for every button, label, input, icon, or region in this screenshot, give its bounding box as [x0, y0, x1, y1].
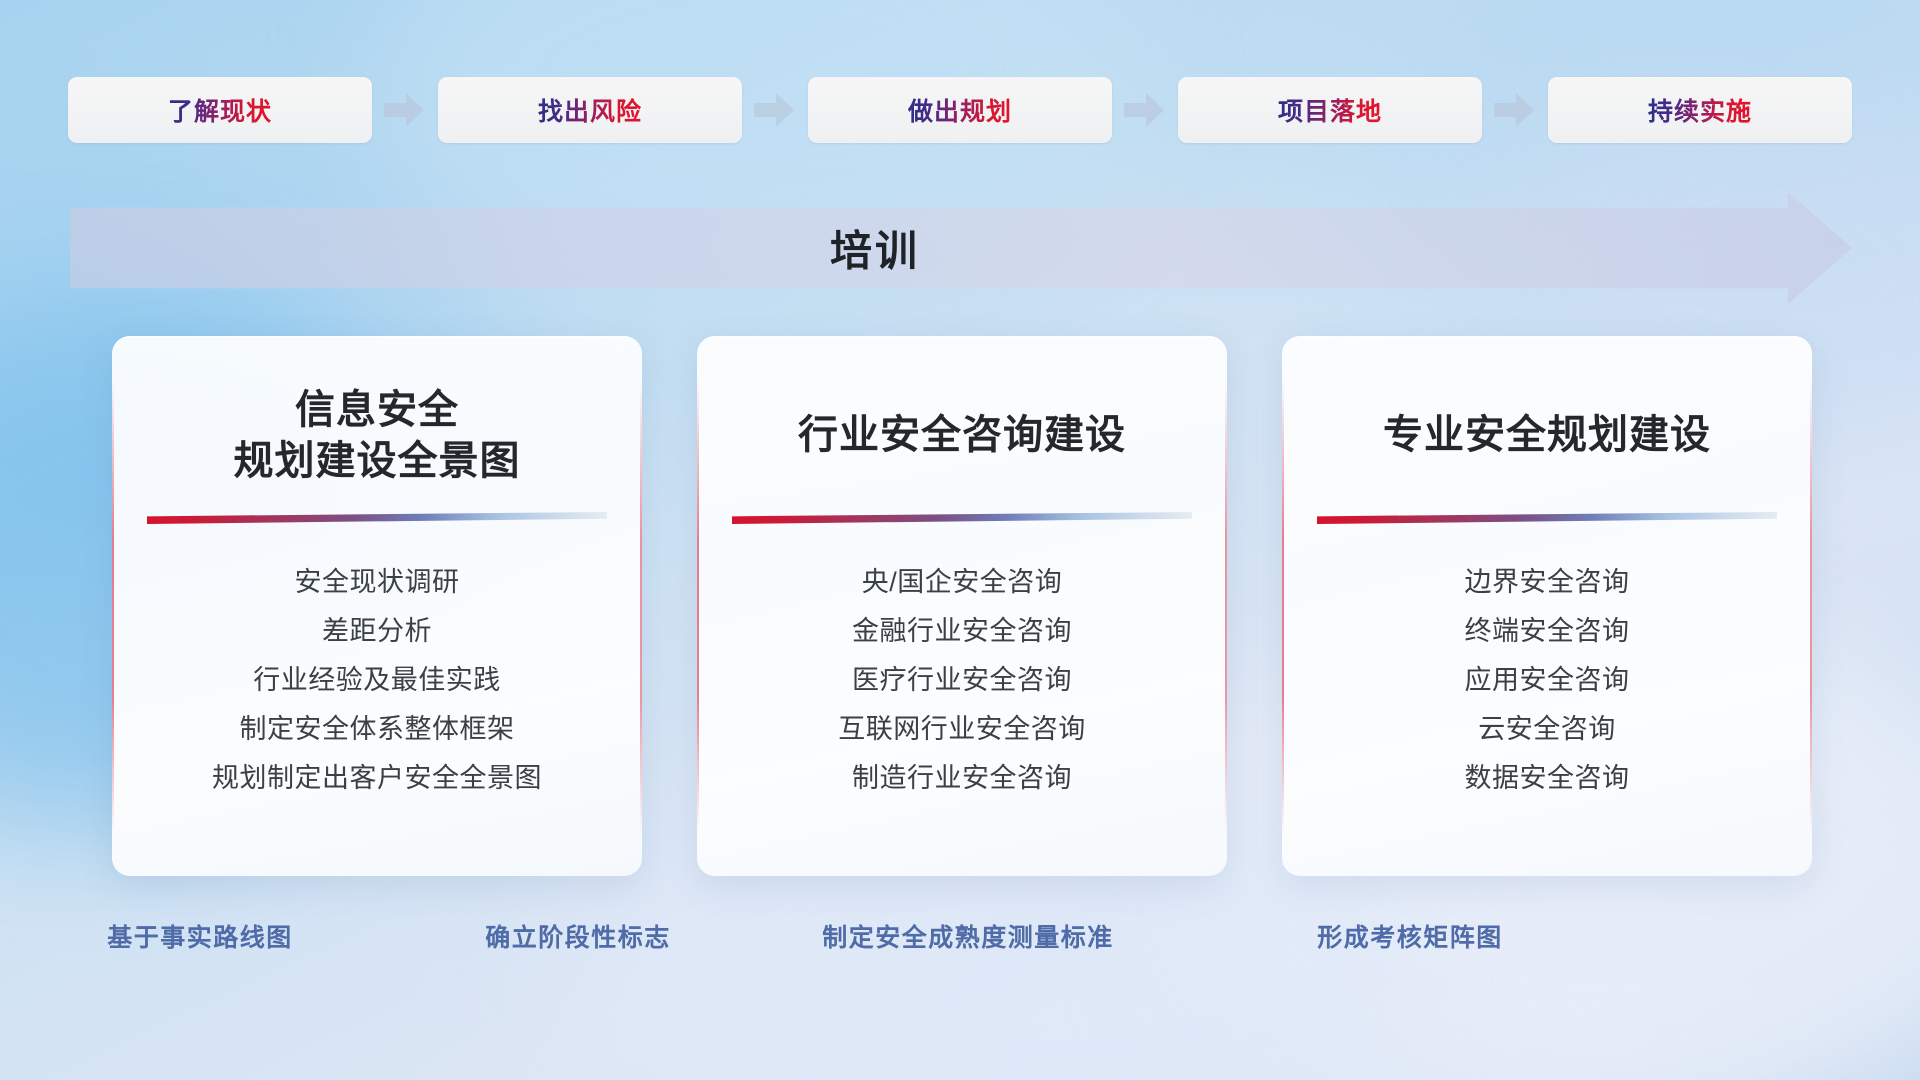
list-item[interactable]: 互联网行业安全咨询: [727, 705, 1197, 754]
process-step-row: 了解现状找出风险做出规划项目落地持续实施: [68, 76, 1852, 144]
card-title-line: 信息安全: [234, 385, 521, 436]
list-item[interactable]: 制造行业安全咨询: [727, 754, 1197, 803]
slide-canvas: 了解现状找出风险做出规划项目落地持续实施 培训 信息安全规划建设全景图安全现状调…: [0, 0, 1920, 1080]
service-card-2[interactable]: 行业安全咨询建设央/国企安全咨询金融行业安全咨询医疗行业安全咨询互联网行业安全咨…: [697, 336, 1227, 876]
card-row: 信息安全规划建设全景图安全现状调研差距分析行业经验及最佳实践制定安全体系整体框架…: [112, 336, 1812, 876]
process-step-label: 做出规划: [908, 92, 1012, 128]
card-title: 信息安全规划建设全景图: [234, 384, 521, 488]
service-card-3[interactable]: 专业安全规划建设边界安全咨询终端安全咨询应用安全咨询云安全咨询数据安全咨询: [1282, 336, 1812, 876]
card-title-line: 专业安全规划建设: [1383, 410, 1711, 461]
card-divider: [147, 512, 607, 524]
list-item[interactable]: 边界安全咨询: [1312, 558, 1782, 607]
process-step-3[interactable]: 做出规划: [808, 77, 1112, 143]
card-title: 专业安全规划建设: [1383, 384, 1711, 488]
training-banner: 培训: [70, 192, 1852, 304]
card-divider: [732, 512, 1192, 524]
service-card-1[interactable]: 信息安全规划建设全景图安全现状调研差距分析行业经验及最佳实践制定安全体系整体框架…: [112, 336, 642, 876]
card-item-list: 央/国企安全咨询金融行业安全咨询医疗行业安全咨询互联网行业安全咨询制造行业安全咨…: [727, 558, 1197, 803]
arrow-right-icon: [1122, 90, 1168, 130]
arrow-right-icon: [382, 90, 428, 130]
list-item[interactable]: 差距分析: [142, 607, 612, 656]
arrow-right-icon: [1492, 90, 1538, 130]
list-item[interactable]: 云安全咨询: [1312, 705, 1782, 754]
card-title-line: 行业安全咨询建设: [798, 410, 1126, 461]
card-item-list: 安全现状调研差距分析行业经验及最佳实践制定安全体系整体框架规划制定出客户安全全景…: [142, 558, 612, 803]
footnote-row: 基于事实路线图确立阶段性标志制定安全成熟度测量标准形成考核矩阵图: [0, 918, 1920, 962]
banner-title: 培训: [70, 218, 1852, 279]
list-item[interactable]: 央/国企安全咨询: [727, 558, 1197, 607]
process-step-5[interactable]: 持续实施: [1548, 77, 1852, 143]
list-item[interactable]: 行业经验及最佳实践: [142, 656, 612, 705]
process-step-2[interactable]: 找出风险: [438, 77, 742, 143]
card-divider-bar: [732, 512, 1192, 524]
footnote-label-3: 制定安全成熟度测量标准: [822, 918, 1114, 954]
card-divider-bar: [1317, 512, 1777, 524]
process-step-label: 持续实施: [1648, 92, 1752, 128]
process-step-1[interactable]: 了解现状: [68, 77, 372, 143]
process-step-4[interactable]: 项目落地: [1178, 77, 1482, 143]
card-divider-bar: [147, 512, 607, 524]
list-item[interactable]: 制定安全体系整体框架: [142, 705, 612, 754]
list-item[interactable]: 安全现状调研: [142, 558, 612, 607]
list-item[interactable]: 应用安全咨询: [1312, 656, 1782, 705]
footnote-label-4: 形成考核矩阵图: [1317, 918, 1503, 954]
card-title-line: 规划建设全景图: [234, 436, 521, 487]
list-item[interactable]: 金融行业安全咨询: [727, 607, 1197, 656]
list-item[interactable]: 规划制定出客户安全全景图: [142, 754, 612, 803]
card-item-list: 边界安全咨询终端安全咨询应用安全咨询云安全咨询数据安全咨询: [1312, 558, 1782, 803]
footnote-label-1: 基于事实路线图: [107, 918, 293, 954]
process-step-label: 项目落地: [1278, 92, 1382, 128]
list-item[interactable]: 终端安全咨询: [1312, 607, 1782, 656]
list-item[interactable]: 医疗行业安全咨询: [727, 656, 1197, 705]
arrow-right-icon: [752, 90, 798, 130]
card-title: 行业安全咨询建设: [798, 384, 1126, 488]
footnote-label-2: 确立阶段性标志: [485, 918, 671, 954]
process-step-label: 了解现状: [168, 92, 272, 128]
list-item[interactable]: 数据安全咨询: [1312, 754, 1782, 803]
card-divider: [1317, 512, 1777, 524]
process-step-label: 找出风险: [538, 92, 642, 128]
